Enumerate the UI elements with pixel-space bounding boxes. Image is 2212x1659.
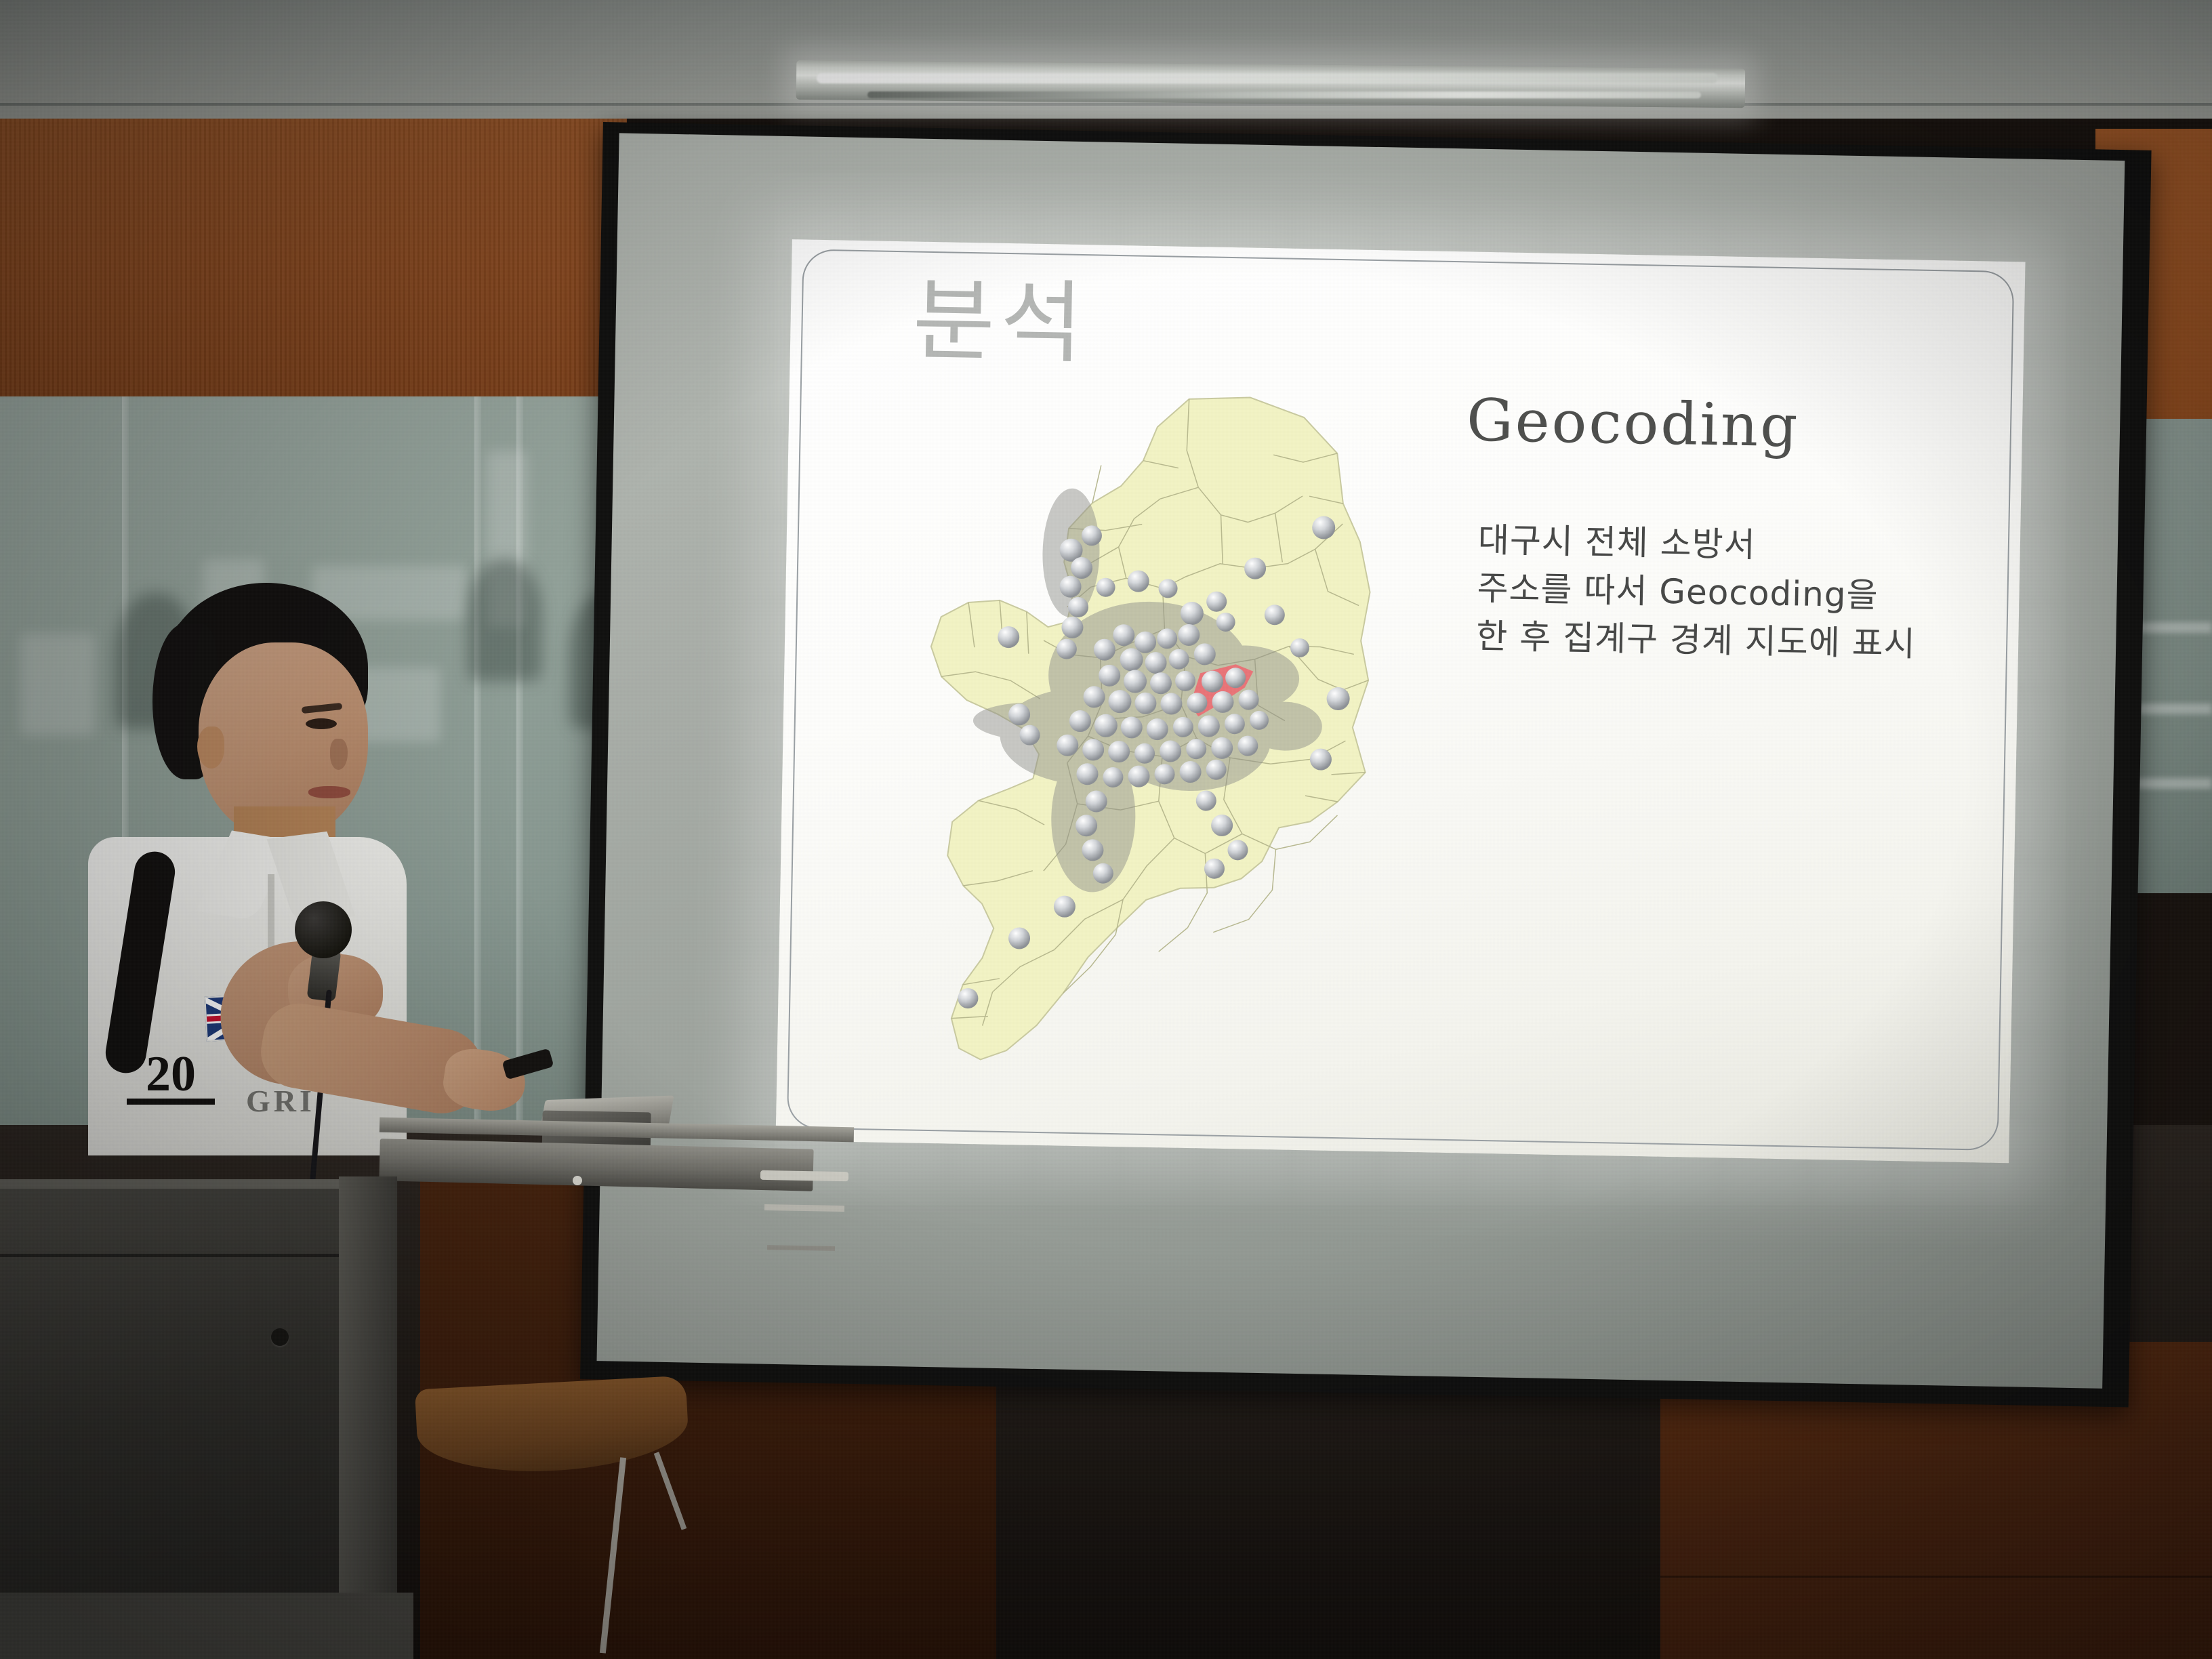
slide-title: 분석 <box>912 274 1088 371</box>
wood-wall-panel-left <box>0 119 627 403</box>
seated-person-silhouette <box>468 559 542 681</box>
ceiling-seam <box>0 103 2212 106</box>
map-svg <box>858 380 1386 1080</box>
presenter: 20 GRI <box>64 583 444 1152</box>
podium-edge-line <box>0 1254 383 1257</box>
geocoding-body-text: 대구시 전체 소방서 주소를 따서 Geocoding을 한 후 집계구 경계 … <box>1476 516 1994 670</box>
geocoding-map-graphic <box>858 380 1386 1080</box>
projection-screen-surface: 분석 <box>596 133 2125 1388</box>
podium-side-panel <box>339 1176 397 1658</box>
podium-base <box>0 1593 413 1659</box>
presenter-ear <box>197 726 224 769</box>
podium-knob[interactable] <box>271 1328 289 1346</box>
presenter-eye <box>306 718 337 729</box>
geocoding-heading: Geocoding <box>1466 391 1800 455</box>
lecture-room-photo: 분석 <box>0 0 2212 1659</box>
fluorescent-light-fixture <box>796 60 1745 108</box>
microphone-head-icon <box>295 901 352 958</box>
lecture-podium <box>0 1179 383 1659</box>
fluorescent-tube-upper <box>817 73 1718 83</box>
presenter-shirt-number: 20 <box>127 1050 215 1105</box>
rail-screw <box>573 1176 582 1185</box>
presentation-slide: 분석 <box>776 239 2026 1163</box>
presenter-mouth <box>308 786 350 798</box>
fluorescent-tube-lower <box>867 91 1701 98</box>
projection-screen-frame: 분석 <box>580 122 2152 1408</box>
rail-bracket-top <box>760 1170 848 1181</box>
